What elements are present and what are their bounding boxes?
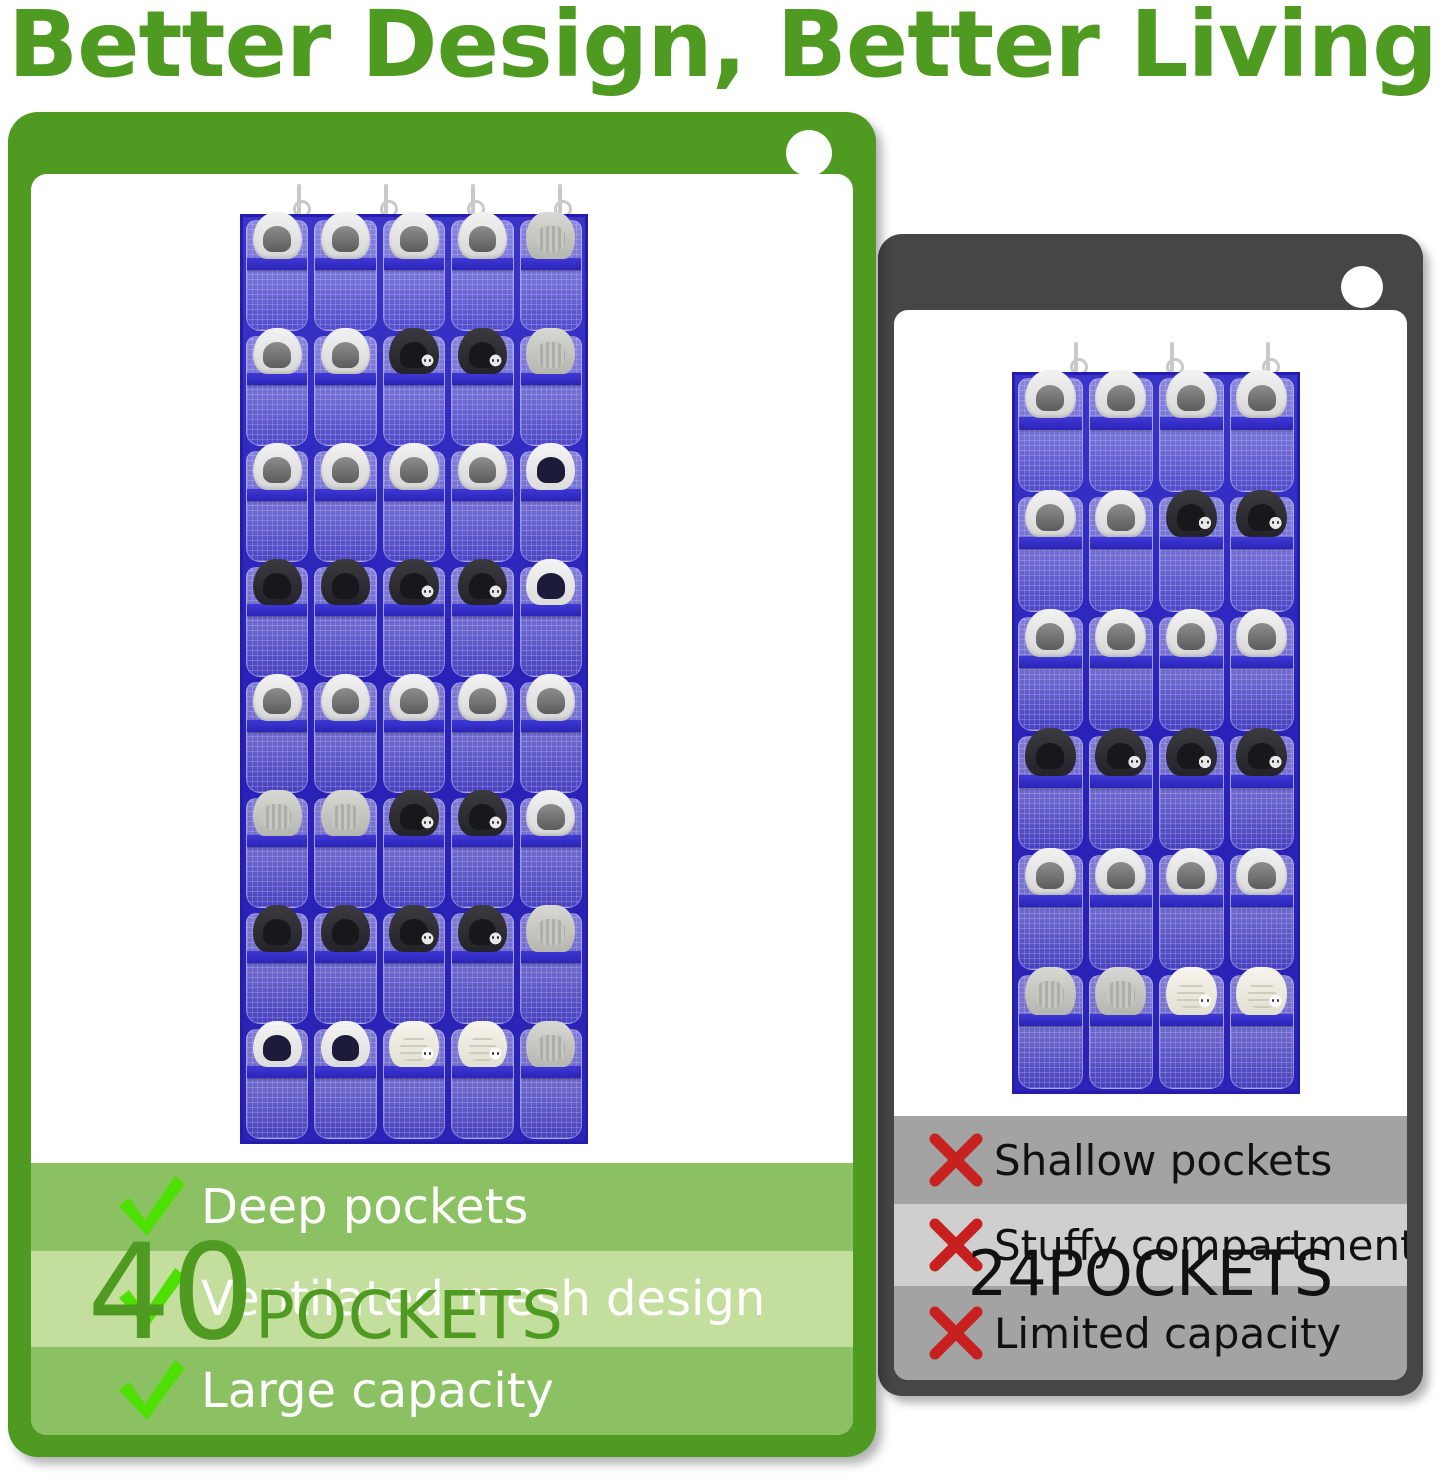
product-pocket-count: 40 POCKETS bbox=[87, 1241, 564, 1347]
organizer-pocket bbox=[243, 564, 311, 680]
organizer-pocket bbox=[517, 333, 585, 449]
organizer-row bbox=[243, 217, 585, 333]
organizer-pocket bbox=[1227, 852, 1298, 971]
shoe-item bbox=[526, 1021, 575, 1067]
competitor-panel-content: 24POCKETS Shallow pockets bbox=[894, 310, 1407, 1380]
organizer-pocket bbox=[243, 217, 311, 333]
organizer-pocket bbox=[517, 679, 585, 795]
organizer-pocket bbox=[1086, 375, 1157, 494]
hanging-hook-icon bbox=[1170, 342, 1174, 372]
organizer-pocket bbox=[380, 217, 448, 333]
organizer-pocket bbox=[311, 217, 379, 333]
shoe-item bbox=[253, 559, 302, 605]
shoe-item bbox=[1095, 967, 1146, 1015]
organizer-row bbox=[243, 910, 585, 1026]
shoe-item bbox=[458, 212, 507, 258]
shoe-item bbox=[321, 905, 370, 951]
organizer-pocket bbox=[1086, 614, 1157, 733]
organizer-pocket bbox=[1015, 733, 1086, 852]
organizer-pocket bbox=[1156, 375, 1227, 494]
organizer-pocket bbox=[448, 910, 516, 1026]
competitor-panel: 24POCKETS Shallow pockets bbox=[878, 234, 1423, 1396]
infographic-root: Better Design, Better Living 24POCKETS bbox=[0, 0, 1445, 1482]
organizer-pocket bbox=[1227, 733, 1298, 852]
shoe-item bbox=[321, 790, 370, 836]
pocket-count-number: 40 bbox=[87, 1241, 255, 1347]
feature-label: Shallow pockets bbox=[994, 1136, 1332, 1185]
shoe-item bbox=[389, 559, 438, 605]
organizer-row bbox=[1015, 733, 1297, 852]
shoe-item bbox=[389, 674, 438, 720]
feature-label: Limited capacity bbox=[994, 1309, 1341, 1358]
organizer-pocket bbox=[311, 795, 379, 911]
shoe-item bbox=[253, 905, 302, 951]
organizer-row bbox=[1015, 375, 1297, 494]
organizer-pocket bbox=[448, 448, 516, 564]
organizer-row bbox=[243, 679, 585, 795]
organizer-24-pockets bbox=[1012, 372, 1300, 1094]
organizer-pocket bbox=[1086, 852, 1157, 971]
organizer-row bbox=[1015, 852, 1297, 971]
organizer-pocket bbox=[380, 564, 448, 680]
organizer-pocket bbox=[1156, 972, 1227, 1091]
organizer-pocket bbox=[311, 333, 379, 449]
shoe-item bbox=[389, 212, 438, 258]
shoe-item bbox=[458, 905, 507, 951]
organizer-pocket bbox=[448, 795, 516, 911]
organizer-pocket bbox=[1227, 614, 1298, 733]
shoe-item bbox=[253, 674, 302, 720]
organizer-pocket bbox=[311, 448, 379, 564]
shoe-item bbox=[526, 790, 575, 836]
hanging-hook-icon bbox=[297, 184, 301, 214]
shoe-item bbox=[1236, 370, 1287, 418]
organizer-pocket bbox=[1086, 494, 1157, 613]
shoe-item bbox=[1025, 728, 1076, 776]
product-panel: 40 POCKETS Deep pockets bbox=[8, 112, 876, 1457]
organizer-row bbox=[1015, 614, 1297, 733]
organizer-pocket bbox=[1015, 852, 1086, 971]
shoe-item bbox=[389, 905, 438, 951]
organizer-pocket bbox=[1227, 972, 1298, 1091]
shoe-item bbox=[1095, 370, 1146, 418]
organizer-pocket bbox=[448, 679, 516, 795]
shoe-item bbox=[253, 1021, 302, 1067]
shoe-item bbox=[458, 1021, 507, 1067]
organizer-row bbox=[1015, 972, 1297, 1091]
hanging-hook-icon bbox=[384, 184, 388, 214]
organizer-pocket bbox=[380, 1026, 448, 1142]
shoe-item bbox=[1095, 728, 1146, 776]
shoe-item bbox=[526, 443, 575, 489]
hanging-hook-icon bbox=[1266, 342, 1270, 372]
organizer-pocket bbox=[380, 333, 448, 449]
organizer-pocket bbox=[1156, 733, 1227, 852]
shoe-item bbox=[1236, 967, 1287, 1015]
shoe-item bbox=[1025, 848, 1076, 896]
shoe-item bbox=[1166, 848, 1217, 896]
feature-label: Large capacity bbox=[195, 1363, 554, 1419]
competitor-pocket-count: 24POCKETS bbox=[894, 1237, 1407, 1310]
organizer-pocket bbox=[243, 333, 311, 449]
organizer-pocket bbox=[380, 448, 448, 564]
shoe-item bbox=[389, 790, 438, 836]
shoe-item bbox=[526, 559, 575, 605]
shoe-item bbox=[1095, 848, 1146, 896]
organizer-pocket bbox=[1156, 852, 1227, 971]
organizer-pocket bbox=[311, 1026, 379, 1142]
cross-icon bbox=[918, 1302, 994, 1364]
organizer-pocket bbox=[448, 564, 516, 680]
shoe-item bbox=[253, 212, 302, 258]
shoe-item bbox=[1166, 967, 1217, 1015]
hanging-hook-icon bbox=[471, 184, 475, 214]
organizer-pocket bbox=[243, 795, 311, 911]
shoe-item bbox=[458, 443, 507, 489]
organizer-pocket bbox=[311, 564, 379, 680]
organizer-pocket bbox=[380, 910, 448, 1026]
shoe-item bbox=[1025, 370, 1076, 418]
organizer-pocket bbox=[243, 679, 311, 795]
organizer-body-40 bbox=[240, 214, 588, 1144]
shoe-item bbox=[458, 674, 507, 720]
page-title: Better Design, Better Living bbox=[0, 0, 1445, 97]
shoe-item bbox=[321, 443, 370, 489]
organizer-pocket bbox=[1156, 614, 1227, 733]
organizer-pocket bbox=[448, 333, 516, 449]
hang-hole-gray bbox=[1341, 266, 1383, 308]
feature-row: Shallow pockets bbox=[894, 1116, 1407, 1204]
organizer-body-24 bbox=[1012, 372, 1300, 1094]
shoe-item bbox=[526, 212, 575, 258]
organizer-pocket bbox=[1015, 494, 1086, 613]
organizer-40-pockets bbox=[240, 214, 588, 1144]
product-panel-content: 40 POCKETS Deep pockets bbox=[31, 174, 853, 1435]
shoe-item bbox=[458, 559, 507, 605]
shoe-item bbox=[1236, 609, 1287, 657]
shoe-item bbox=[1095, 609, 1146, 657]
organizer-pocket bbox=[517, 1026, 585, 1142]
hook-group-24 bbox=[1012, 342, 1300, 374]
organizer-pocket bbox=[243, 910, 311, 1026]
shoe-item bbox=[1166, 490, 1217, 538]
organizer-pocket bbox=[1015, 614, 1086, 733]
organizer-row bbox=[243, 564, 585, 680]
shoe-item bbox=[253, 443, 302, 489]
organizer-pocket bbox=[1227, 494, 1298, 613]
organizer-pocket bbox=[243, 1026, 311, 1142]
shoe-item bbox=[389, 443, 438, 489]
shoe-item bbox=[1166, 370, 1217, 418]
organizer-pocket bbox=[448, 1026, 516, 1142]
shoe-item bbox=[526, 674, 575, 720]
shoe-item bbox=[1166, 609, 1217, 657]
organizer-pocket bbox=[517, 795, 585, 911]
shoe-item bbox=[321, 1021, 370, 1067]
hanging-hook-icon bbox=[558, 184, 562, 214]
shoe-item bbox=[1025, 609, 1076, 657]
organizer-pocket bbox=[448, 217, 516, 333]
hook-group-40 bbox=[240, 184, 588, 216]
organizer-row bbox=[243, 448, 585, 564]
organizer-row bbox=[1015, 494, 1297, 613]
shoe-item bbox=[1236, 490, 1287, 538]
organizer-pocket bbox=[517, 910, 585, 1026]
organizer-pocket bbox=[243, 448, 311, 564]
shoe-item bbox=[1236, 728, 1287, 776]
shoe-item bbox=[1025, 490, 1076, 538]
shoe-item bbox=[321, 328, 370, 374]
organizer-row bbox=[243, 1026, 585, 1142]
organizer-pocket bbox=[380, 679, 448, 795]
organizer-pocket bbox=[1156, 494, 1227, 613]
shoe-item bbox=[458, 328, 507, 374]
shoe-item bbox=[321, 674, 370, 720]
shoe-item bbox=[321, 559, 370, 605]
shoe-item bbox=[1025, 967, 1076, 1015]
organizer-pocket bbox=[311, 910, 379, 1026]
organizer-pocket bbox=[311, 679, 379, 795]
organizer-pocket bbox=[1227, 375, 1298, 494]
organizer-pocket bbox=[517, 448, 585, 564]
shoe-item bbox=[526, 905, 575, 951]
shoe-item bbox=[389, 1021, 438, 1067]
organizer-row bbox=[243, 795, 585, 911]
organizer-pocket bbox=[517, 217, 585, 333]
shoe-item bbox=[1095, 490, 1146, 538]
cross-icon bbox=[918, 1129, 994, 1191]
shoe-item bbox=[458, 790, 507, 836]
shoe-item bbox=[253, 790, 302, 836]
shoe-item bbox=[253, 328, 302, 374]
shoe-item bbox=[1236, 848, 1287, 896]
hanging-hook-icon bbox=[1074, 342, 1078, 372]
shoe-item bbox=[389, 328, 438, 374]
pocket-count-word: POCKETS bbox=[255, 1290, 564, 1343]
organizer-pocket bbox=[1086, 733, 1157, 852]
shoe-item bbox=[526, 328, 575, 374]
hang-hole-green bbox=[786, 130, 832, 176]
shoe-item bbox=[321, 212, 370, 258]
organizer-row bbox=[243, 333, 585, 449]
organizer-pocket bbox=[1015, 375, 1086, 494]
shoe-item bbox=[1166, 728, 1217, 776]
organizer-pocket bbox=[1015, 972, 1086, 1091]
organizer-pocket bbox=[380, 795, 448, 911]
organizer-pocket bbox=[517, 564, 585, 680]
organizer-pocket bbox=[1086, 972, 1157, 1091]
